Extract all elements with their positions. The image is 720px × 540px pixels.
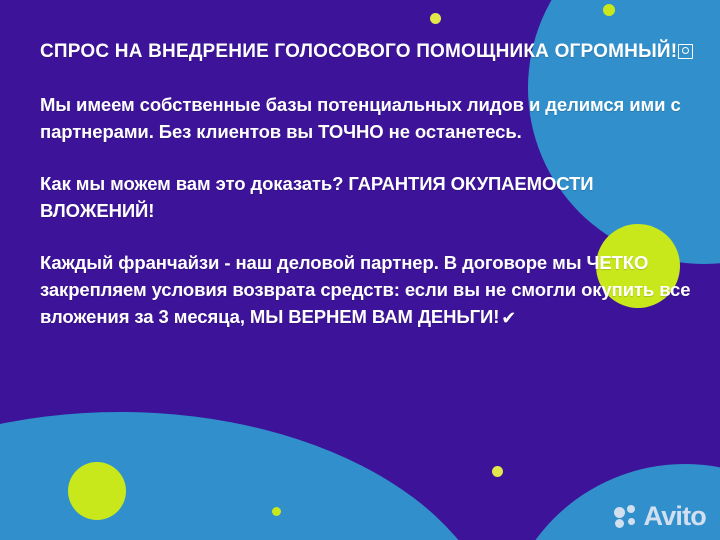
paragraph-3-text: Каждый франчайзи - наш деловой партнер. … — [40, 252, 690, 327]
money-banknote-emoji — [678, 44, 693, 59]
text-content-block: СПРОС НА ВНЕДРЕНИЕ ГОЛОСОВОГО ПОМОЩНИКА … — [40, 38, 694, 330]
avito-dot-3 — [615, 519, 624, 528]
dot-top-right-decoration — [603, 4, 615, 16]
avito-dot-4 — [628, 518, 635, 525]
paragraph-1: Мы имеем собственные базы потенциальных … — [40, 91, 694, 145]
paragraph-2: Как мы можем вам это доказать? ГАРАНТИЯ … — [40, 170, 694, 224]
avito-dot-2 — [627, 505, 635, 513]
avito-dot-1 — [614, 507, 625, 518]
slide-heading-text: СПРОС НА ВНЕДРЕНИЕ ГОЛОСОВОГО ПОМОЩНИКА … — [40, 41, 677, 62]
avito-logo: Avito — [614, 503, 707, 530]
avito-dots-logo-icon — [614, 505, 640, 529]
paragraph-3: Каждый франчайзи - наш деловой партнер. … — [40, 249, 694, 330]
dot-bottom-decoration — [272, 507, 281, 516]
dot-top-left-decoration — [430, 13, 441, 24]
check-mark-emoji: ✔ — [501, 309, 516, 327]
slide-heading: СПРОС НА ВНЕДРЕНИЕ ГОЛОСОВОГО ПОМОЩНИКА … — [40, 38, 694, 66]
promo-slide: СПРОС НА ВНЕДРЕНИЕ ГОЛОСОВОГО ПОМОЩНИКА … — [0, 0, 720, 540]
dot-mid-right-decoration — [492, 466, 503, 477]
circle-blue-bottom-left-decoration — [0, 412, 500, 540]
avito-wordmark: Avito — [644, 503, 707, 530]
circle-lime-bottom-left-decoration — [68, 462, 126, 520]
